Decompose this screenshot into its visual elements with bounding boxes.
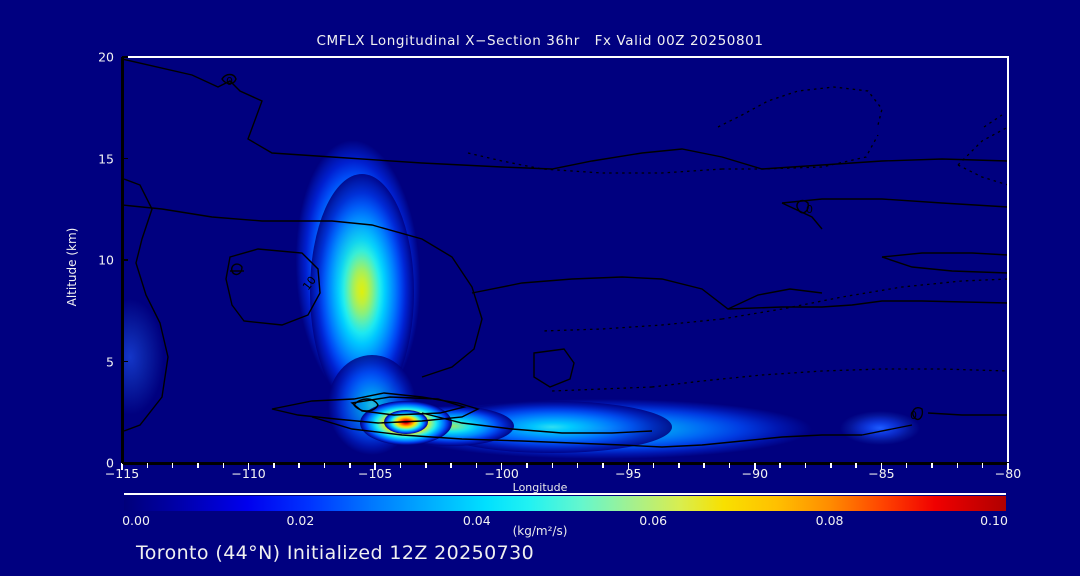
- x-minor-tick: [602, 463, 604, 468]
- x-minor-tick: [526, 463, 528, 468]
- x-minor-tick: [653, 463, 655, 468]
- x-tick-label: −90: [742, 466, 768, 481]
- svg-text:10: 10: [300, 274, 319, 293]
- x-minor-tick: [298, 463, 300, 468]
- y-tick-label: 5: [82, 354, 114, 369]
- x-minor-tick: [703, 463, 705, 468]
- x-minor-tick: [957, 463, 959, 468]
- colorbar-gradient: [124, 496, 1006, 511]
- y-tick: [122, 462, 128, 464]
- x-minor-tick: [450, 463, 452, 468]
- x-tick-label: −80: [995, 466, 1021, 481]
- x-tick-label: −110: [231, 466, 265, 481]
- x-minor-tick: [552, 463, 554, 468]
- x-minor-tick: [425, 463, 427, 468]
- x-minor-tick: [324, 463, 326, 468]
- x-tick-label: −85: [868, 466, 894, 481]
- x-minor-tick: [931, 463, 933, 468]
- x-minor-tick: [223, 463, 225, 468]
- page-title: CMFLX Longitudinal X−Section 36hr Fx Val…: [0, 33, 1080, 49]
- y-tick-label: 15: [82, 151, 114, 166]
- x-minor-tick: [400, 463, 402, 468]
- analysis-contours: 10 0 0 0: [122, 57, 1008, 463]
- x-minor-tick: [906, 463, 908, 468]
- x-minor-tick: [349, 463, 351, 468]
- x-minor-tick: [855, 463, 857, 468]
- x-minor-tick: [982, 463, 984, 468]
- x-minor-tick: [577, 463, 579, 468]
- y-tick: [122, 259, 128, 261]
- x-minor-tick: [779, 463, 781, 468]
- plot-frame-top: [122, 56, 1009, 58]
- x-minor-tick: [805, 463, 807, 468]
- svg-text:0: 0: [226, 75, 233, 88]
- colorbar: [124, 496, 1006, 511]
- x-minor-tick: [147, 463, 149, 468]
- x-minor-tick: [197, 463, 199, 468]
- footer-caption: Toronto (44°N) Initialized 12Z 20250730: [136, 542, 534, 564]
- x-minor-tick: [729, 463, 731, 468]
- x-minor-tick: [678, 463, 680, 468]
- x-minor-tick: [476, 463, 478, 468]
- y-tick: [122, 361, 128, 363]
- x-minor-tick: [172, 463, 174, 468]
- plot-frame-right: [1007, 56, 1009, 464]
- x-minor-tick: [273, 463, 275, 468]
- y-tick: [122, 158, 128, 160]
- cross-section-plot: 10 0 0 0: [122, 57, 1008, 463]
- svg-text:0: 0: [806, 203, 813, 216]
- y-tick-label: 0: [82, 456, 114, 471]
- y-tick: [122, 56, 128, 58]
- svg-text:0: 0: [910, 409, 917, 422]
- x-tick-label: −105: [358, 466, 392, 481]
- colorbar-top-rule: [124, 493, 1006, 495]
- x-minor-tick: [830, 463, 832, 468]
- x-tick-label: −95: [615, 466, 641, 481]
- y-tick-label: 20: [82, 50, 114, 65]
- y-axis-label: Altitude (km): [65, 187, 79, 347]
- x-tick-label: −100: [485, 466, 519, 481]
- colorbar-units-label: (kg/m²/s): [0, 524, 1080, 538]
- y-tick-label: 10: [82, 253, 114, 268]
- plot-frame-bottom: [121, 462, 1009, 465]
